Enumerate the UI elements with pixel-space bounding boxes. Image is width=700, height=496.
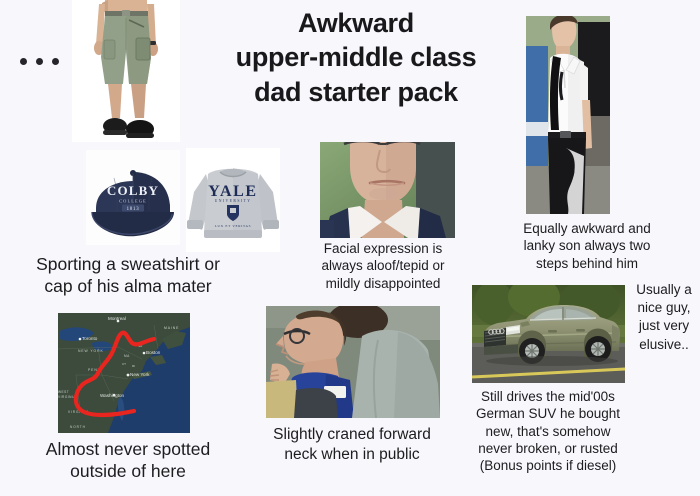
- german-suv-caption-line-2: German SUV he bought: [466, 405, 630, 422]
- map-caption-line-1: Almost never spotted: [8, 438, 248, 460]
- nice-guy-caption: Usually a nice guy, just very elusive..: [630, 281, 698, 354]
- svg-text:COLLEGE: COLLEGE: [119, 199, 147, 204]
- craned-neck-caption: Slightly craned forward neck when in pub…: [252, 425, 452, 465]
- craned-neck-caption-line-1: Slightly craned forward: [252, 425, 452, 445]
- svg-text:1813: 1813: [127, 207, 140, 212]
- yale-sweatshirt-photo: YALE UNIVERSITY LUX ET VERITAS: [186, 148, 280, 252]
- alma-mater-caption-line-1: Sporting a sweatshirt or: [8, 253, 248, 275]
- svg-text:Toronto: Toronto: [82, 336, 98, 341]
- german-suv-caption-line-1: Still drives the mid'00s: [466, 388, 630, 405]
- facial-expression-caption-line-2: always aloof/tepid or: [308, 257, 458, 274]
- facial-expression-caption-line-3: mildly disappointed: [308, 275, 458, 292]
- craned-neck-photo: [266, 306, 440, 418]
- lanky-son-caption-line-2: lanky son always two: [512, 237, 662, 254]
- map-caption: Almost never spotted outside of here: [8, 438, 248, 483]
- german-suv-caption-line-3: new, that's somehow: [466, 423, 630, 440]
- svg-text:Washington: Washington: [100, 393, 125, 398]
- svg-text:YALE: YALE: [208, 183, 257, 200]
- colby-cap-photo: COLBY COLLEGE 1813: [86, 150, 180, 245]
- svg-text:NORTH: NORTH: [70, 425, 86, 429]
- svg-text:VIRGINIA: VIRGINIA: [58, 395, 76, 399]
- svg-text:NEW YORK: NEW YORK: [78, 349, 104, 353]
- map-caption-line-2: outside of here: [8, 460, 248, 482]
- craned-neck-caption-line-2: neck when in public: [252, 445, 452, 465]
- cargo-shorts-photo: [72, 0, 180, 142]
- svg-text:MAINE: MAINE: [164, 326, 179, 330]
- svg-text:COLBY: COLBY: [107, 183, 159, 198]
- svg-text:UNIVERSITY: UNIVERSITY: [215, 199, 252, 203]
- title-line-2: upper-middle class: [196, 40, 516, 74]
- lanky-son-caption: Equally awkward and lanky son always two…: [512, 220, 662, 272]
- svg-text:RI: RI: [132, 364, 135, 368]
- facial-expression-caption-line-1: Facial expression is: [308, 240, 458, 257]
- svg-text:LUX ET VERITAS: LUX ET VERITAS: [215, 224, 252, 228]
- nice-guy-caption-line-1: Usually a: [630, 281, 698, 299]
- german-suv-caption-line-5: (Bonus points if diesel): [466, 457, 630, 474]
- german-suv-caption-line-4: never broken, or rusted: [466, 440, 630, 457]
- northeast-corridor-map: Montreal Toronto MAINE NEW YORK VT NH MA…: [58, 313, 190, 433]
- svg-text:WEST: WEST: [58, 390, 69, 394]
- lanky-son-caption-line-1: Equally awkward and: [512, 220, 662, 237]
- ellipsis-dot-1: [20, 58, 27, 65]
- ellipsis-indicator: [20, 58, 59, 65]
- starter-pack-meme: Awkward upper-middle class dad starter p…: [0, 0, 700, 496]
- aloof-face-photo: [320, 142, 455, 238]
- facial-expression-caption: Facial expression is always aloof/tepid …: [308, 240, 458, 292]
- alma-mater-caption-line-2: cap of his alma mater: [8, 275, 248, 297]
- lanky-son-photo: [526, 16, 610, 214]
- nice-guy-caption-line-4: elusive..: [630, 336, 698, 354]
- svg-text:CT: CT: [122, 362, 126, 366]
- german-suv-caption: Still drives the mid'00s German SUV he b…: [466, 388, 630, 474]
- nice-guy-caption-line-3: just very: [630, 317, 698, 335]
- title-line-3: dad starter pack: [196, 75, 516, 109]
- title-line-1: Awkward: [196, 6, 516, 40]
- audi-q7-suv-photo: [472, 285, 625, 383]
- meme-title: Awkward upper-middle class dad starter p…: [196, 6, 516, 109]
- svg-text:New York: New York: [130, 372, 150, 377]
- svg-text:Montreal: Montreal: [108, 316, 126, 321]
- alma-mater-caption: Sporting a sweatshirt or cap of his alma…: [8, 253, 248, 298]
- svg-text:MA: MA: [124, 354, 130, 358]
- nice-guy-caption-line-2: nice guy,: [630, 299, 698, 317]
- lanky-son-caption-line-3: steps behind him: [512, 255, 662, 272]
- svg-text:Boston: Boston: [146, 350, 161, 355]
- ellipsis-dot-2: [36, 58, 43, 65]
- ellipsis-dot-3: [52, 58, 59, 65]
